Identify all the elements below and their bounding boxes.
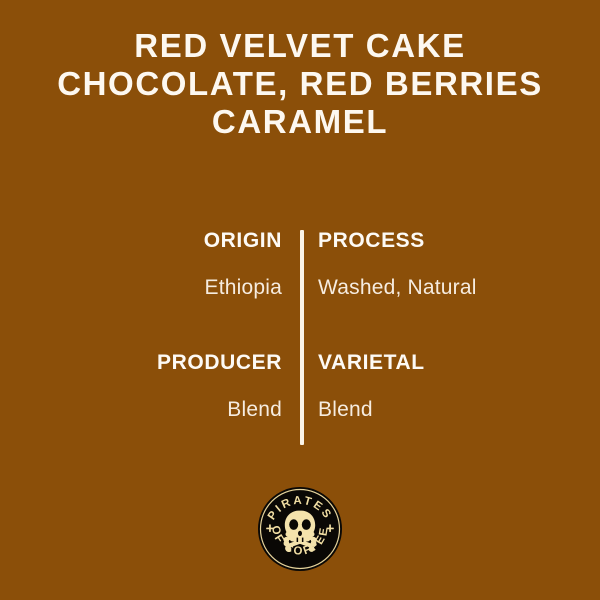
detail-origin-value: Ethiopia xyxy=(60,275,282,301)
detail-process-value: Washed, Natural xyxy=(318,275,540,301)
title-line-3: CARAMEL xyxy=(0,103,600,141)
detail-producer-value: Blend xyxy=(60,397,282,423)
title-line-1: RED VELVET CAKE xyxy=(0,27,600,65)
detail-producer-label: PRODUCER xyxy=(60,350,282,376)
detail-producer: PRODUCER Blend xyxy=(60,350,282,423)
brand-logo: PIRATES OF COFFEE xyxy=(258,487,342,571)
detail-varietal-label: VARIETAL xyxy=(318,350,540,376)
page-title: RED VELVET CAKE CHOCOLATE, RED BERRIES C… xyxy=(0,27,600,141)
column-divider xyxy=(300,230,304,445)
detail-origin: ORIGIN Ethiopia xyxy=(60,228,282,301)
title-line-2: CHOCOLATE, RED BERRIES xyxy=(0,65,600,103)
coffee-bag-label-card: RED VELVET CAKE CHOCOLATE, RED BERRIES C… xyxy=(0,0,600,600)
detail-process: PROCESS Washed, Natural xyxy=(318,228,540,301)
detail-varietal: VARIETAL Blend xyxy=(318,350,540,423)
detail-varietal-value: Blend xyxy=(318,397,540,423)
details-grid: ORIGIN Ethiopia PROCESS Washed, Natural … xyxy=(60,228,540,448)
detail-process-label: PROCESS xyxy=(318,228,540,254)
detail-origin-label: ORIGIN xyxy=(60,228,282,254)
